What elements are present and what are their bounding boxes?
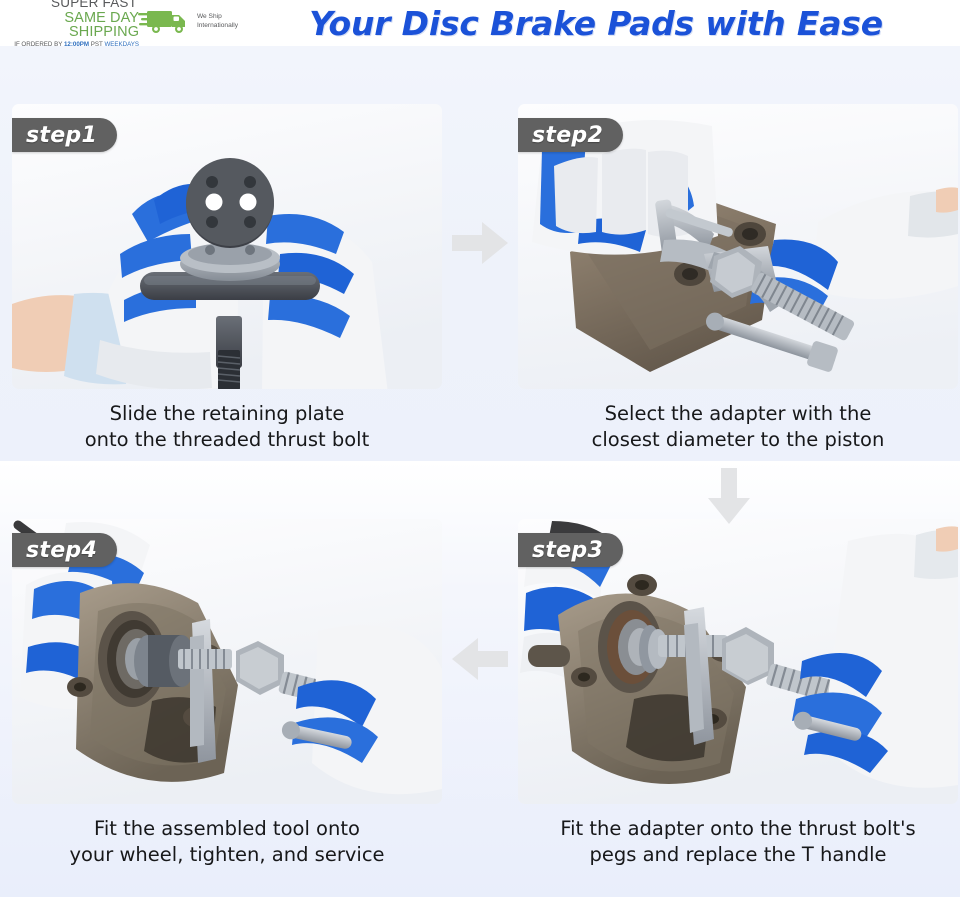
delivery-truck-icon [142, 5, 193, 39]
step-caption-4: Fit the assembled tool onto your wheel, … [12, 816, 442, 867]
fineprint-days: WEEKDAYS [104, 41, 139, 48]
step-badge-2-label: step2 [532, 123, 603, 148]
step-badge-3-label: step3 [532, 538, 603, 563]
shipping-badge-text: SUPER FAST SAME DAY SHIPPING IF ORDERED … [8, 0, 139, 48]
page-title-text: Your Disc Brake Pads with Ease [309, 4, 883, 43]
step-badge-1-label: step1 [26, 123, 97, 148]
step-cell-2: step2 Select the adapter with the closes… [518, 104, 958, 452]
step-caption-4-line2: your wheel, tighten, and service [12, 842, 442, 868]
shipping-line-fineprint: IF ORDERED BY 12:00PM PST WEEKDAYS [8, 42, 139, 48]
ships-internationally-text: We Ship Internationally [197, 13, 238, 31]
step-badge-2: step2 [518, 118, 623, 152]
step-photo-1: step1 [12, 104, 442, 389]
arrow-right-icon [452, 222, 508, 264]
step-caption-2-line1: Select the adapter with the [518, 401, 958, 427]
step-badge-1: step1 [12, 118, 117, 152]
shipping-badge: SUPER FAST SAME DAY SHIPPING IF ORDERED … [8, 2, 238, 42]
step-caption-1-line2: onto the threaded thrust bolt [12, 427, 442, 453]
intl-line-2: Internationally [197, 22, 238, 31]
step-photo-3: step3 [518, 519, 958, 804]
shipping-line-same-day: SAME DAY SHIPPING [8, 11, 139, 40]
step-caption-1: Slide the retaining plate onto the threa… [12, 401, 442, 452]
shipping-line-super-fast: SUPER FAST [8, 0, 139, 10]
header-bar: SUPER FAST SAME DAY SHIPPING IF ORDERED … [0, 0, 960, 46]
step-badge-3: step3 [518, 533, 623, 567]
step-photo-4: step4 [12, 519, 442, 804]
step-cell-4: step4 Fit the assembled tool onto your w… [12, 519, 442, 867]
step-badge-4-label: step4 [26, 538, 97, 563]
step-badge-4: step4 [12, 533, 117, 567]
step-caption-4-line1: Fit the assembled tool onto [12, 816, 442, 842]
infographic-page: SUPER FAST SAME DAY SHIPPING IF ORDERED … [0, 0, 960, 897]
step-caption-2: Select the adapter with the closest diam… [518, 401, 958, 452]
step-caption-2-line2: closest diameter to the piston [518, 427, 958, 453]
intl-line-1: We Ship [197, 13, 238, 22]
step-caption-3-line2: pegs and replace the T handle [518, 842, 958, 868]
truck-body-icon [146, 8, 192, 36]
step-caption-3-line1: Fit the adapter onto the thrust bolt's [518, 816, 958, 842]
step-caption-1-line1: Slide the retaining plate [12, 401, 442, 427]
arrow-left-icon [452, 638, 508, 680]
fineprint-mid: PST [89, 41, 104, 48]
step-cell-1: step1 Slide the retaining plate onto the… [12, 104, 442, 452]
step-caption-3: Fit the adapter onto the thrust bolt's p… [518, 816, 958, 867]
arrow-down-icon [708, 468, 750, 524]
page-title: Your Disc Brake Pads with Ease [238, 0, 954, 46]
fineprint-time: 12:00PM [64, 41, 89, 48]
step-photo-2: step2 [518, 104, 958, 389]
step-cell-3: step3 Fit the adapter onto the thrust bo… [518, 519, 958, 867]
fineprint-prefix: IF ORDERED BY [14, 41, 64, 48]
